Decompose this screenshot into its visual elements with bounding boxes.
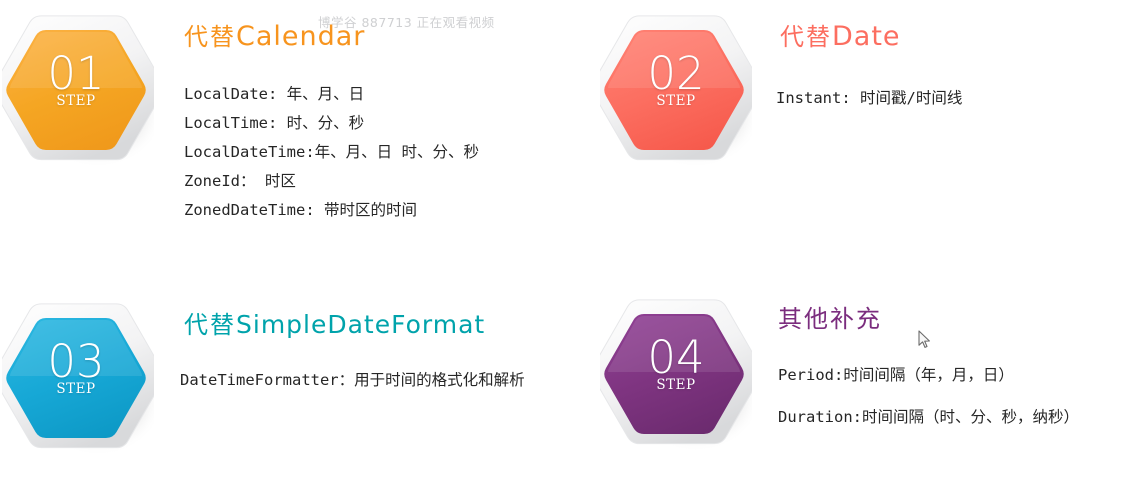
step-heading-04: 其他补充 xyxy=(778,304,882,334)
step-heading-cn-03: 代替 xyxy=(184,311,236,339)
step-line: ZonedDateTime: 带时区的时间 xyxy=(184,196,479,225)
step-line: Instant: 时间戳/时间线 xyxy=(776,84,962,113)
step-number-04: 04 xyxy=(600,335,752,380)
step-lines-01: LocalDate: 年、月、日 LocalTime: 时、分、秒 LocalD… xyxy=(184,80,479,225)
step-heading-en-03: SimpleDateFormat xyxy=(236,310,485,339)
step-line: Period:时间间隔（年，月，日） xyxy=(778,354,1079,396)
step-number-03: 03 xyxy=(0,339,152,384)
step-lines-03: DateTimeFormatter：用于时间的格式化和解析 xyxy=(180,366,525,395)
step-badge-03[interactable]: 03 STEP xyxy=(2,296,154,456)
step-heading-cn-01: 代替 xyxy=(184,23,236,51)
step-line: LocalDateTime:年、月、日 时、分、秒 xyxy=(184,138,479,167)
step-badge-04[interactable]: 04 STEP xyxy=(600,292,752,452)
step-badge-01[interactable]: 01 STEP xyxy=(2,8,154,168)
step-label-03: STEP xyxy=(0,382,152,396)
step-heading-03: 代替SimpleDateFormat xyxy=(184,310,485,340)
step-line: LocalTime: 时、分、秒 xyxy=(184,109,479,138)
step-heading-02: 代替Date xyxy=(780,22,901,52)
step-line: LocalDate: 年、月、日 xyxy=(184,80,479,109)
step-heading-en-02: Date xyxy=(832,21,901,52)
step-number-02: 02 xyxy=(600,51,752,96)
step-heading-cn-04: 其他补充 xyxy=(778,305,882,333)
step-lines-02: Instant: 时间戳/时间线 xyxy=(776,84,962,113)
step-label-02: STEP xyxy=(600,94,752,108)
step-number-01: 01 xyxy=(0,51,152,96)
step-label-04: STEP xyxy=(600,378,752,392)
step-label-01: STEP xyxy=(0,94,152,108)
step-line: Duration:时间间隔（时、分、秒，纳秒） xyxy=(778,396,1079,438)
mouse-cursor-icon xyxy=(918,330,932,350)
step-heading-cn-02: 代替 xyxy=(780,23,832,51)
step-line: DateTimeFormatter：用于时间的格式化和解析 xyxy=(180,366,525,395)
step-line: ZoneId： 时区 xyxy=(184,167,479,196)
slide-canvas: 博学谷 887713 正在观看视频 xyxy=(0,0,1124,486)
step-lines-04: Period:时间间隔（年，月，日） Duration:时间间隔（时、分、秒，纳… xyxy=(778,354,1079,438)
step-heading-en-01: Calendar xyxy=(236,21,365,52)
step-heading-01: 代替Calendar xyxy=(184,22,365,52)
step-badge-02[interactable]: 02 STEP xyxy=(600,8,752,168)
